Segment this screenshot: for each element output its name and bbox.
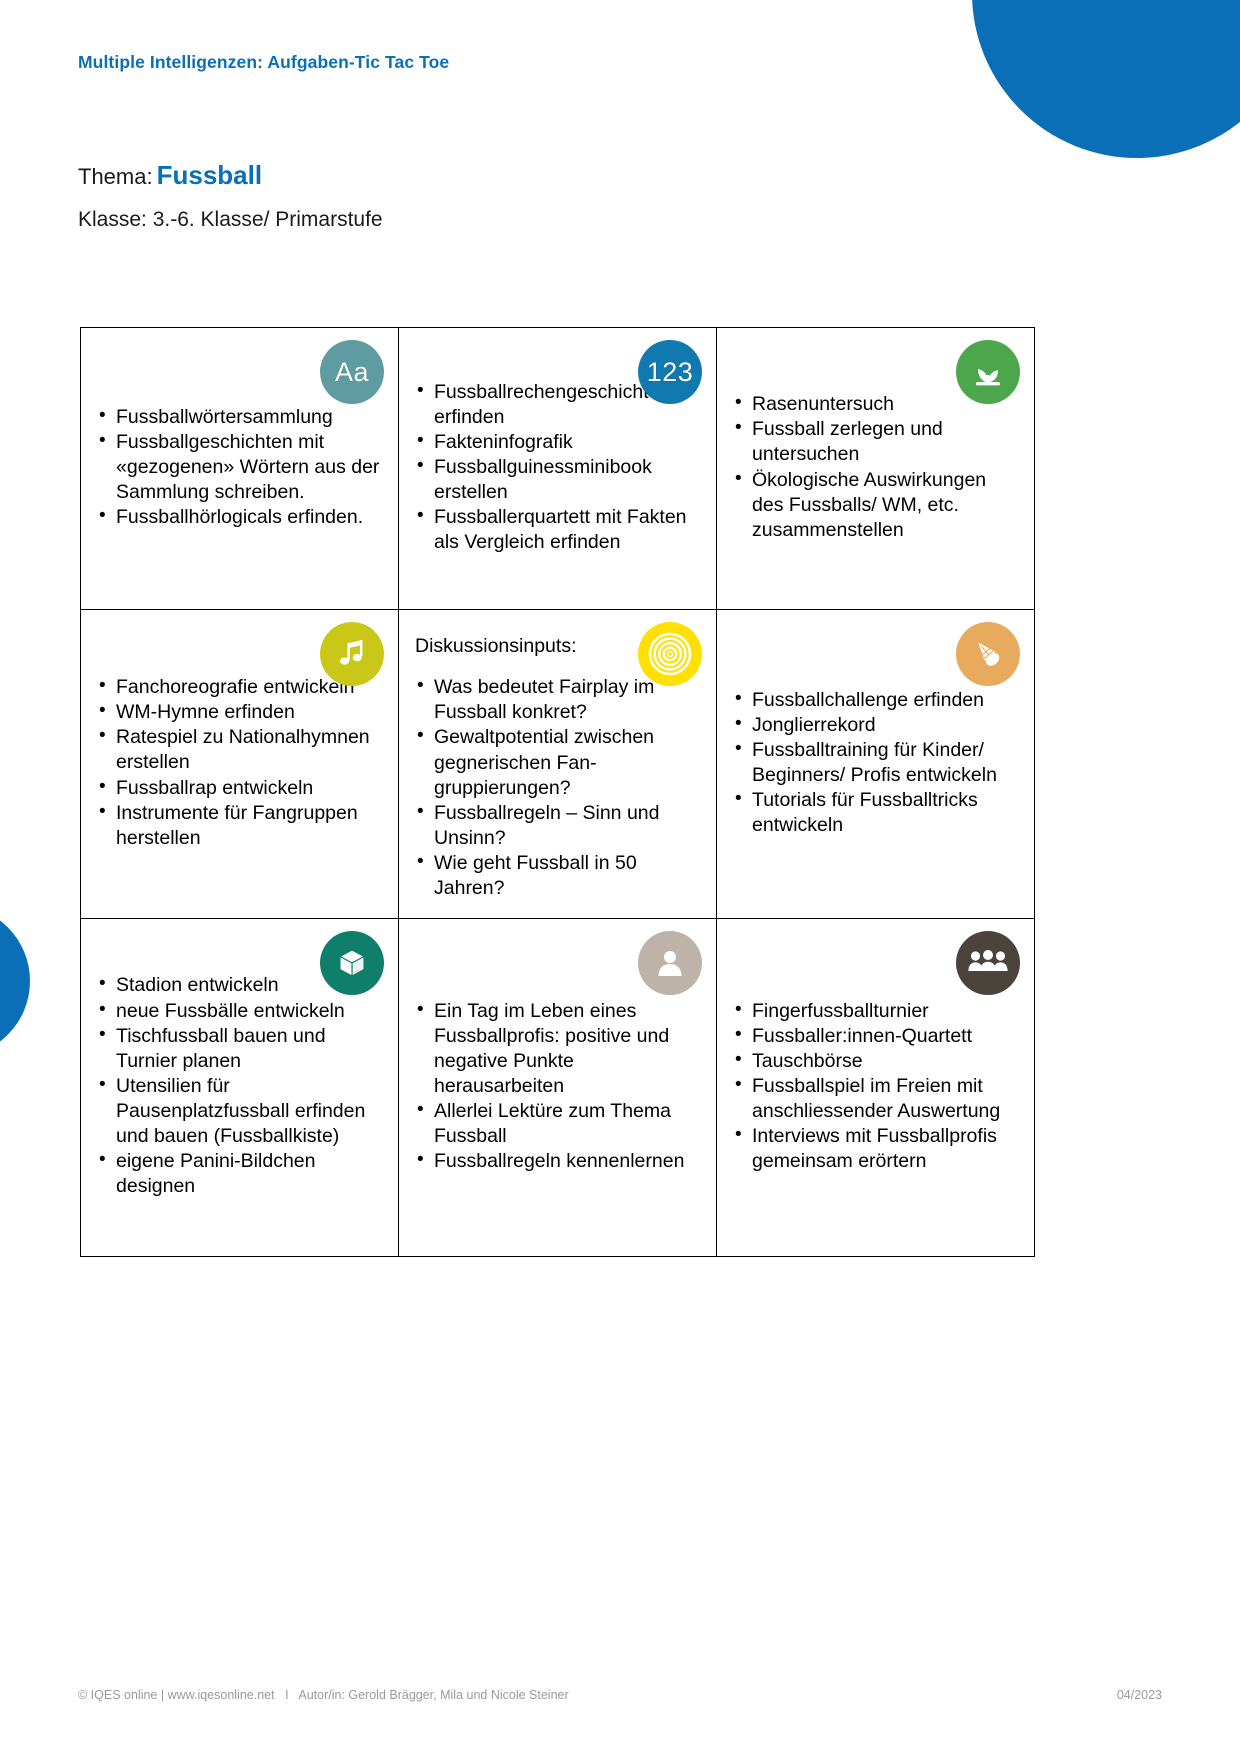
task-item: Ratespiel zu Nationalhymnen erstellen (97, 725, 382, 775)
task-list-naturalist: Rasenuntersuch Fussball zerlegen und unt… (733, 392, 1018, 543)
grid-cell-intrapersonal[interactable]: Diskussionsinputs: Was bedeutet Fairplay… (399, 610, 717, 919)
task-item: Ökologische Auswirkungen des Fussballs/ … (733, 468, 1018, 543)
thema-label: Thema: (78, 164, 153, 189)
single-person-icon (638, 931, 702, 995)
task-item: Fussballtraining für Kinder/ Beginners/ … (733, 738, 1018, 788)
task-item: Fussballer:innen-Quartett (733, 1024, 1018, 1049)
task-list-spatial: Stadion entwickeln neue Fussbälle entwic… (97, 973, 382, 1199)
task-list-logical-mathematical: Fussballrechengeschichten erfinden Fakte… (415, 380, 700, 556)
footer-authors: Autor/in: Gerold Brägger, Mila und Nicol… (298, 1688, 568, 1702)
task-item: Jonglierrekord (733, 713, 1018, 738)
grid-row-2: Fanchoreografie entwickeln WM-Hymne erfi… (81, 610, 1035, 919)
task-item: eigene Panini-Bildchen designen (97, 1149, 382, 1199)
footer-left: © IQES online | www.iqesonline.net I Aut… (78, 1688, 569, 1702)
target-spiral-icon (638, 622, 702, 686)
aa-letters-icon-label: Aa (335, 357, 369, 388)
task-item: Fussballwörtersammlung (97, 405, 382, 430)
grid-cell-interpersonal[interactable]: Fingerfussballturnier Fussballer:innen-Q… (717, 919, 1035, 1257)
task-item: Tischfussball bauen und Turnier planen (97, 1024, 382, 1074)
task-item: Fussballregeln – Sinn und Unsinn? (415, 801, 700, 851)
task-item: Gewaltpotential zwischen gegnerischen Fa… (415, 725, 700, 800)
task-item: neue Fussbälle entwickeln (97, 999, 382, 1024)
task-item: Allerlei Lektüre zum Thema Fussball (415, 1099, 700, 1149)
document-header-title: Multiple Intelligenzen: Aufgaben-Tic Tac… (78, 52, 449, 73)
shuttlecock-icon (956, 622, 1020, 686)
task-list-interpersonal: Fingerfussballturnier Fussballer:innen-Q… (733, 999, 1018, 1175)
task-item: Fussballrap entwickeln (97, 776, 382, 801)
cube-icon (320, 931, 384, 995)
task-item: Fussballspiel im Freien mit anschliessen… (733, 1074, 1018, 1124)
numbers-123-icon: 123 (638, 340, 702, 404)
klasse-line: Klasse: 3.-6. Klasse/ Primarstufe (78, 208, 383, 232)
task-item: Tutorials für Fussballtricks entwickeln (733, 788, 1018, 838)
task-item: WM-Hymne erfinden (97, 700, 382, 725)
footer-separator: I (285, 1688, 288, 1702)
grid-row-3: Stadion entwickeln neue Fussbälle entwic… (81, 919, 1035, 1257)
footer-date: 04/2023 (1117, 1688, 1162, 1702)
task-item: Fussballhörlogicals erfinden. (97, 505, 382, 530)
task-item: Wie geht Fussball in 50 Jahren? (415, 851, 700, 901)
aa-letters-icon: Aa (320, 340, 384, 404)
task-item: Utensilien für Pausenplatzfussball erfin… (97, 1074, 382, 1149)
task-list-existential: Ein Tag im Leben eines Fussballprofis: p… (415, 999, 700, 1175)
music-note-icon (320, 622, 384, 686)
tic-tac-toe-grid: Aa Fussballwörtersammlung Fussballgeschi… (80, 327, 1035, 1257)
numbers-123-icon-label: 123 (647, 357, 694, 388)
grid-row-1: Aa Fussballwörtersammlung Fussballgeschi… (81, 328, 1035, 610)
footer-copyright: © IQES online | www.iqesonline.net (78, 1688, 275, 1702)
grid-cell-logical-mathematical[interactable]: 123 Fussballrechengeschichten erfinden F… (399, 328, 717, 610)
task-item: Instrumente für Fangruppen herstellen (97, 801, 382, 851)
task-list-bodily-kinesthetic: Fussballchallenge erfinden Jonglierrekor… (733, 688, 1018, 839)
task-item: Fingerfussballturnier (733, 999, 1018, 1024)
thema-value: Fussball (157, 160, 262, 190)
task-list-intrapersonal: Was bedeutet Fairplay im Fussball konkre… (415, 675, 700, 901)
task-item: Fussball zerlegen und untersuchen (733, 417, 1018, 467)
task-item: Fussballchallenge erfinden (733, 688, 1018, 713)
page-footer: © IQES online | www.iqesonline.net I Aut… (78, 1688, 1162, 1702)
grid-cell-spatial[interactable]: Stadion entwickeln neue Fussbälle entwic… (81, 919, 399, 1257)
decorative-shape-left (0, 905, 30, 1057)
task-list-linguistic: Fussballwörtersammlung Fussballgeschicht… (97, 405, 382, 531)
task-item: Fussballguinessminibook erstellen (415, 455, 700, 505)
decorative-circle-top-right (972, 0, 1240, 158)
document-page: Multiple Intelligenzen: Aufgaben-Tic Tac… (0, 0, 1240, 1754)
task-item: Interviews mit Fussballprofis gemeinsam … (733, 1124, 1018, 1174)
task-item: Fussballgeschichten mit «gezogenen» Wört… (97, 430, 382, 505)
grid-cell-existential[interactable]: Ein Tag im Leben eines Fussballprofis: p… (399, 919, 717, 1257)
task-item: Fakteninfografik (415, 430, 700, 455)
grid-cell-musical[interactable]: Fanchoreografie entwickeln WM-Hymne erfi… (81, 610, 399, 919)
thema-line: Thema:Fussball (78, 160, 262, 191)
task-item: Fussballerquartett mit Fakten als Vergle… (415, 505, 700, 555)
task-list-musical: Fanchoreografie entwickeln WM-Hymne erfi… (97, 675, 382, 851)
sprout-plant-icon (956, 340, 1020, 404)
grid-cell-bodily-kinesthetic[interactable]: Fussballchallenge erfinden Jonglierrekor… (717, 610, 1035, 919)
task-item: Ein Tag im Leben eines Fussballprofis: p… (415, 999, 700, 1100)
grid-cell-naturalist[interactable]: Rasenuntersuch Fussball zerlegen und unt… (717, 328, 1035, 610)
grid-cell-linguistic[interactable]: Aa Fussballwörtersammlung Fussballgeschi… (81, 328, 399, 610)
people-group-icon (956, 931, 1020, 995)
task-item: Tauschbörse (733, 1049, 1018, 1074)
task-item: Fussballregeln kennenlernen (415, 1149, 700, 1174)
